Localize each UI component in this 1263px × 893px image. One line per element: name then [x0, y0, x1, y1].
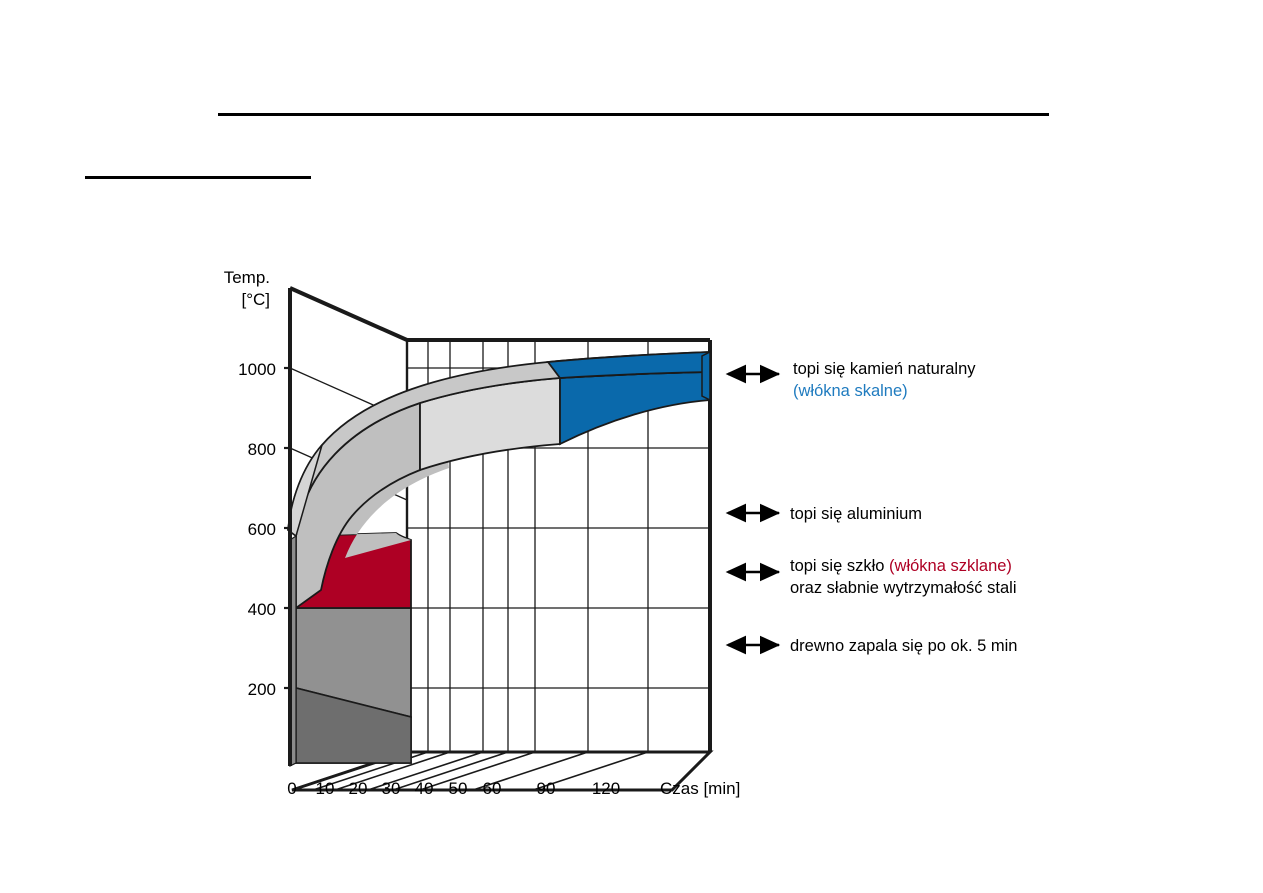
y-axis	[284, 288, 292, 766]
annotation-aluminium-line1: topi się aluminium	[790, 505, 922, 523]
x-tick-label-20: 20	[349, 779, 368, 798]
annotation-rock-wool-line2: (włókna skalne)	[793, 382, 908, 400]
y-tick-label-200: 200	[248, 680, 276, 699]
x-tick-label-10: 10	[316, 779, 335, 798]
y-axis-title-line1: Temp.	[224, 268, 270, 287]
annotation-wood-line1: drewno zapala się po ok. 5 min	[790, 637, 1017, 655]
fire-temperature-curve-figure: Temp. [°C] 1000 800 600 400 200 0 10 20 …	[0, 0, 1263, 893]
annotation-glass-steel: topi się szkło (włókna szklane) oraz sła…	[728, 557, 1017, 597]
y-tick-label-800: 800	[248, 440, 276, 459]
x-tick-label-30: 30	[382, 779, 401, 798]
y-tick-label-600: 600	[248, 520, 276, 539]
y-axis-title-line2: [°C]	[241, 290, 270, 309]
annotation-aluminium: topi się aluminium	[728, 505, 922, 523]
annotation-glass-steel-line1-b: (włókna szklane)	[889, 557, 1012, 575]
annotation-wood: drewno zapala się po ok. 5 min	[728, 637, 1017, 655]
band-right-end-face-blue	[702, 352, 710, 400]
x-tick-label-60: 60	[483, 779, 502, 798]
x-tick-label-120: 120	[592, 779, 620, 798]
x-tick-label-40: 40	[415, 779, 434, 798]
y-tick-label-400: 400	[248, 600, 276, 619]
y-tick-label-1000: 1000	[238, 360, 276, 379]
annotation-glass-steel-line1-a: topi się szkło	[790, 557, 889, 575]
annotation-rock-wool: topi się kamień naturalny (włókna skalne…	[728, 360, 976, 400]
annotation-rock-wool-line1: topi się kamień naturalny	[793, 360, 976, 378]
x-tick-label-50: 50	[449, 779, 468, 798]
x-axis-title: Czas [min]	[660, 779, 740, 798]
x-tick-label-90: 90	[537, 779, 556, 798]
page-canvas: Temp. [°C] 1000 800 600 400 200 0 10 20 …	[0, 0, 1263, 893]
annotation-glass-steel-line1: topi się szkło (włókna szklane)	[790, 557, 1012, 575]
x-tick-label-0: 0	[287, 779, 296, 798]
annotation-glass-steel-line2: oraz słabnie wytrzymałość stali	[790, 579, 1017, 597]
